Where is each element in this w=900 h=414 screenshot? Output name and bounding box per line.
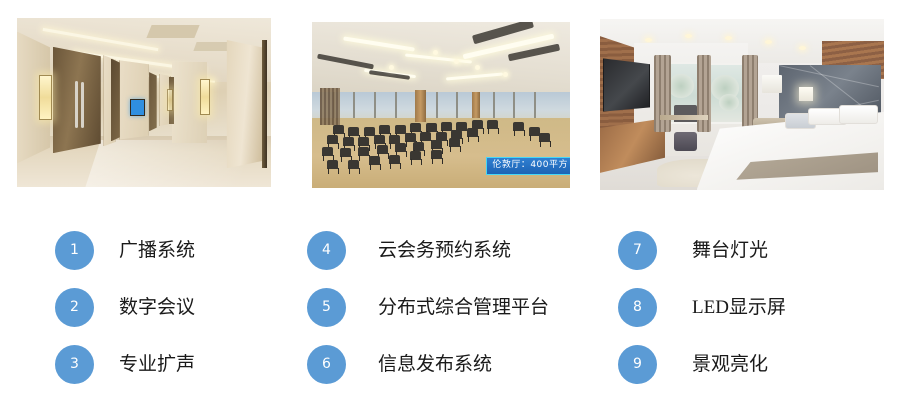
- list-number-badge: 4: [307, 231, 346, 270]
- list-item-label: 景观亮化: [692, 355, 768, 374]
- list-number-badge: 3: [55, 345, 94, 384]
- list-item-label: 专业扩声: [119, 355, 195, 374]
- photo-strip: 伦敦厅：400平方: [0, 0, 900, 205]
- conference-hall-photo: 伦敦厅：400平方: [312, 22, 570, 188]
- list-item[interactable]: 5 分布式综合管理平台: [307, 287, 549, 327]
- list-item[interactable]: 1 广播系统: [55, 230, 195, 270]
- list-number-badge: 7: [618, 231, 657, 270]
- list-number-badge: 9: [618, 345, 657, 384]
- list-item[interactable]: 4 云会务预约系统: [307, 230, 511, 270]
- list-number-badge: 8: [618, 288, 657, 327]
- list-number-badge: 1: [55, 231, 94, 270]
- list-item-label: 数字会议: [119, 298, 195, 317]
- list-item[interactable]: 9 景观亮化: [618, 344, 768, 384]
- list-item-label: 舞台灯光: [692, 241, 768, 260]
- list-number-badge: 5: [307, 288, 346, 327]
- list-item[interactable]: 3 专业扩声: [55, 344, 195, 384]
- list-item-label: 信息发布系统: [378, 355, 492, 374]
- conference-hall-artwork: 伦敦厅：400平方: [312, 22, 570, 188]
- list-item-label: 分布式综合管理平台: [378, 298, 549, 317]
- hall-area-label: 伦敦厅：400平方: [486, 157, 570, 175]
- list-number-badge: 2: [55, 288, 94, 327]
- elevator-lobby-artwork: [17, 18, 271, 187]
- list-number-badge: 6: [307, 345, 346, 384]
- list-item-label: 广播系统: [119, 241, 195, 260]
- guest-room-photo: [600, 19, 884, 190]
- guest-room-artwork: [600, 19, 884, 190]
- list-item[interactable]: 7 舞台灯光: [618, 230, 768, 270]
- elevator-lobby-photo: [17, 18, 271, 187]
- list-item-label: LED显示屏: [692, 298, 786, 317]
- list-item-label: 云会务预约系统: [378, 241, 511, 260]
- list-item[interactable]: 8 LED显示屏: [618, 287, 786, 327]
- list-item[interactable]: 6 信息发布系统: [307, 344, 492, 384]
- service-list: 1 广播系统 2 数字会议 3 专业扩声 4 云会务预约系统 5 分布式综合管理…: [0, 205, 900, 414]
- list-item[interactable]: 2 数字会议: [55, 287, 195, 327]
